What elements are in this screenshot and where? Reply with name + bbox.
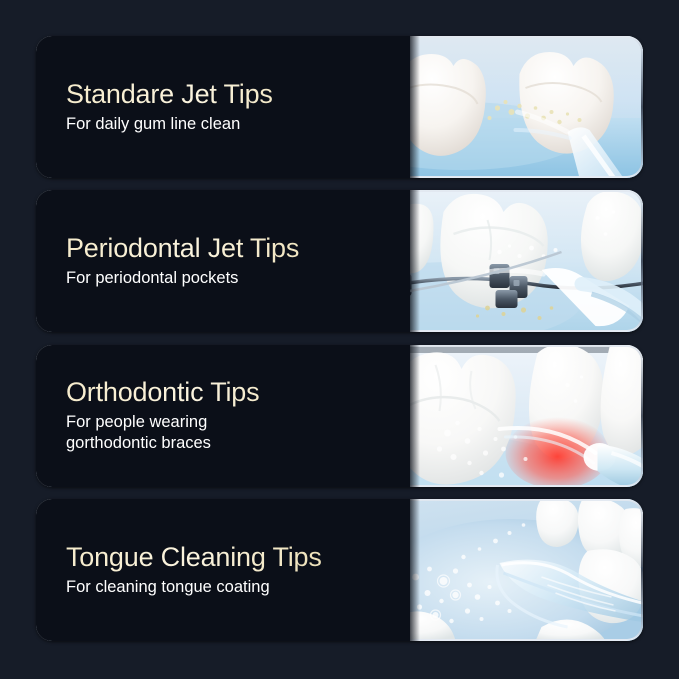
- feature-card-board: Standare Jet Tips For daily gum line cle…: [0, 0, 679, 679]
- feature-card-tongue-cleaning-tips[interactable]: Tongue Cleaning Tips For cleaning tongue…: [36, 499, 643, 641]
- card-text-block: Standare Jet Tips For daily gum line cle…: [36, 36, 410, 178]
- feature-card-orthodontic-tips[interactable]: Orthodontic Tips For people wearing gort…: [36, 345, 643, 487]
- card-subtitle: For periodontal pockets: [66, 268, 410, 289]
- card-title: Standare Jet Tips: [66, 79, 410, 111]
- tongue-cleaner-tip-icon: [410, 499, 643, 641]
- feature-card-standard-jet-tips[interactable]: Standare Jet Tips For daily gum line cle…: [36, 36, 643, 178]
- feature-card-periodontal-jet-tips[interactable]: Periodontal Jet Tips For periodontal poc…: [36, 190, 643, 332]
- card-title: Tongue Cleaning Tips: [66, 542, 410, 574]
- teeth-red-gum-waterjet-icon: [410, 345, 643, 487]
- card-title: Orthodontic Tips: [66, 377, 410, 409]
- teeth-braces-waterjet-icon: [410, 190, 643, 332]
- card-text-block: Tongue Cleaning Tips For cleaning tongue…: [36, 499, 410, 641]
- card-image-periodontal-jet: [410, 190, 643, 332]
- card-image-standard-jet: [410, 36, 643, 178]
- teeth-waterjet-icon: [410, 36, 643, 178]
- card-subtitle: For people wearing gorthodontic braces: [66, 412, 410, 455]
- card-image-tongue-cleaning: [410, 499, 643, 641]
- card-text-block: Periodontal Jet Tips For periodontal poc…: [36, 190, 410, 332]
- card-subtitle: For cleaning tongue coating: [66, 577, 410, 598]
- card-subtitle: For daily gum line clean: [66, 114, 410, 135]
- card-title: Periodontal Jet Tips: [66, 233, 410, 265]
- card-image-orthodontic: [410, 345, 643, 487]
- card-text-block: Orthodontic Tips For people wearing gort…: [36, 345, 410, 487]
